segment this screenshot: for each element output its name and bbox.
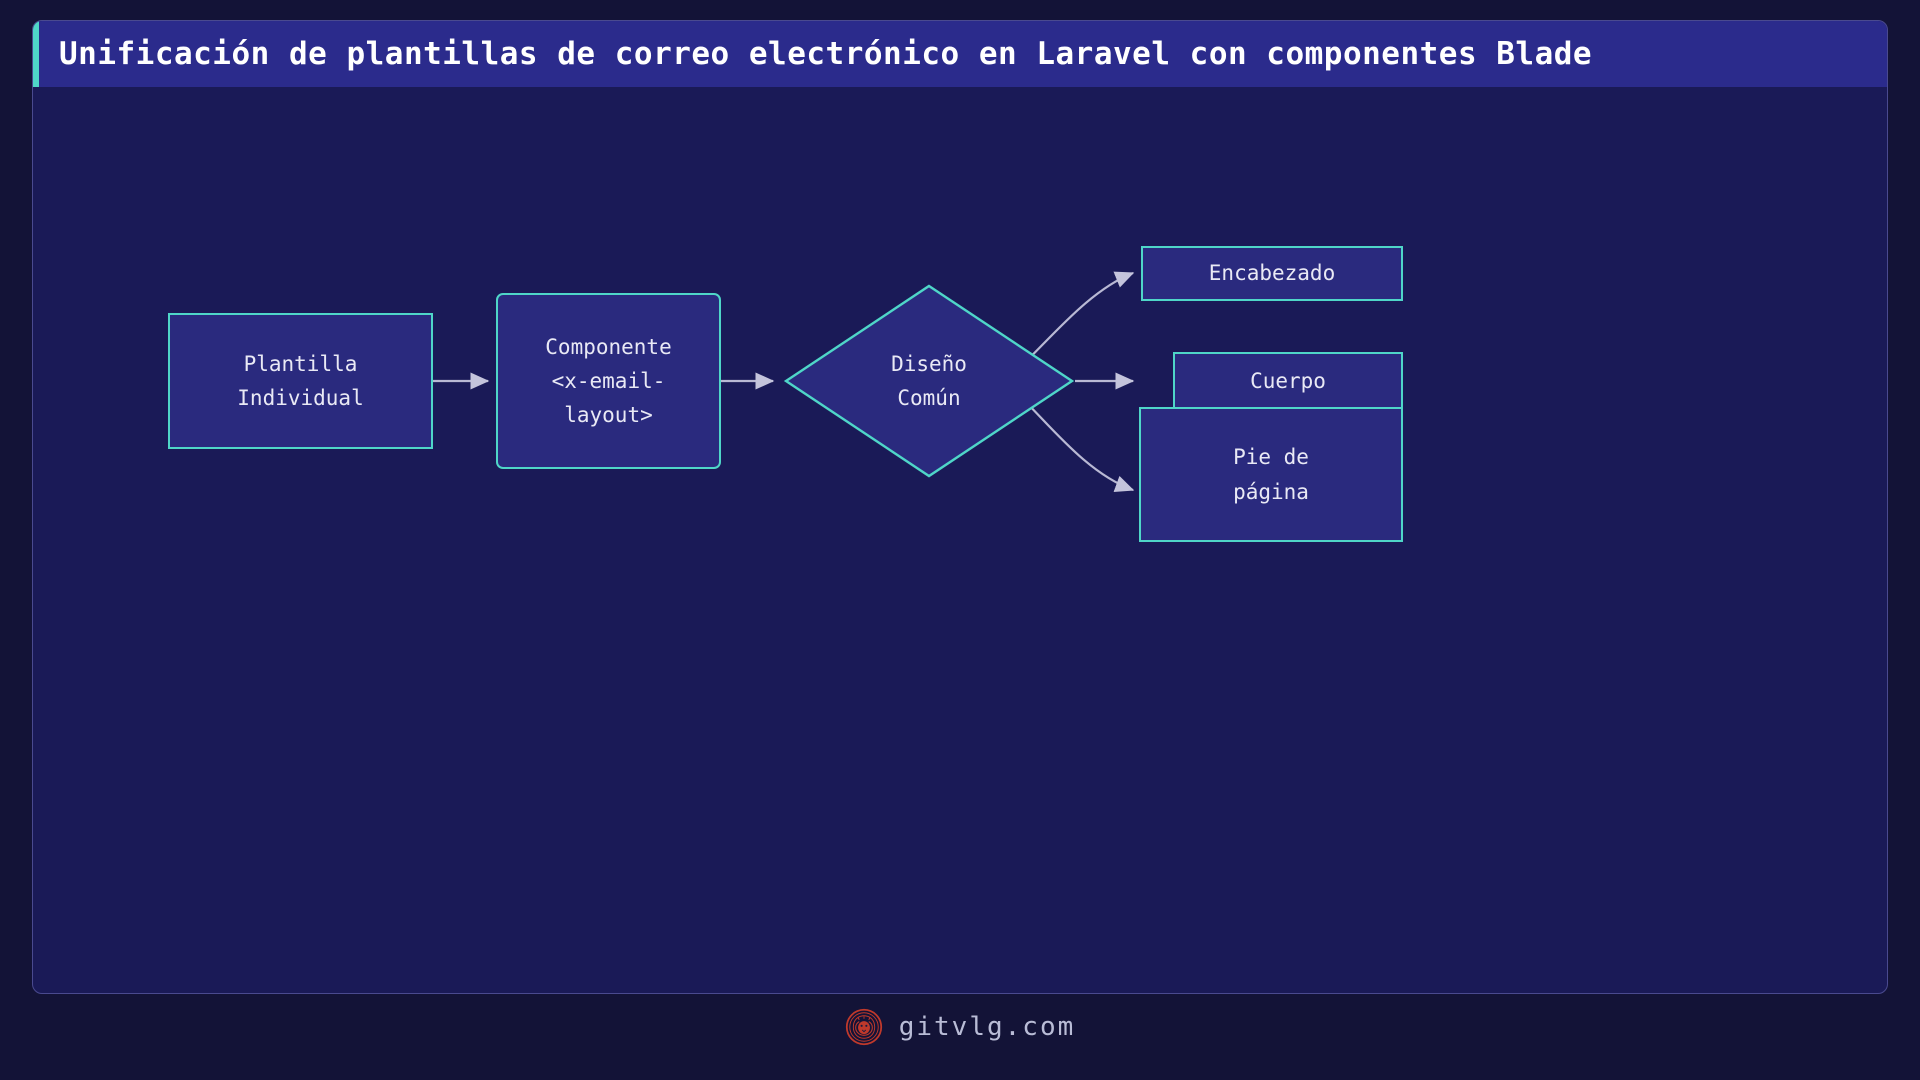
watermark-label: gitvlg.com (899, 1012, 1076, 1042)
page-title: Unificación de plantillas de correo elec… (59, 36, 1592, 72)
lion-emblem-icon (845, 1008, 883, 1046)
node-pie-de-pagina[interactable]: Pie de página (1139, 407, 1403, 542)
node-componente-x-email-layout[interactable]: Componente <x-email- layout> (496, 293, 721, 469)
flowchart-canvas: Plantilla Individual Componente <x-email… (33, 87, 1888, 994)
node-encabezado[interactable]: Encabezado (1141, 246, 1403, 301)
title-banner: Unificación de plantillas de correo elec… (33, 21, 1887, 87)
diamond-shape (783, 283, 1075, 479)
footer-watermark: gitvlg.com (0, 1008, 1920, 1046)
node-cuerpo[interactable]: Cuerpo (1173, 352, 1403, 410)
flowchart-edges (33, 87, 1888, 994)
node-diseno-comun[interactable]: Diseño Común (783, 283, 1075, 479)
diagram-panel: Unificación de plantillas de correo elec… (32, 20, 1888, 994)
page-root: Unificación de plantillas de correo elec… (0, 0, 1920, 1080)
node-plantilla-individual[interactable]: Plantilla Individual (168, 313, 433, 449)
title-accent-bar (33, 21, 39, 87)
